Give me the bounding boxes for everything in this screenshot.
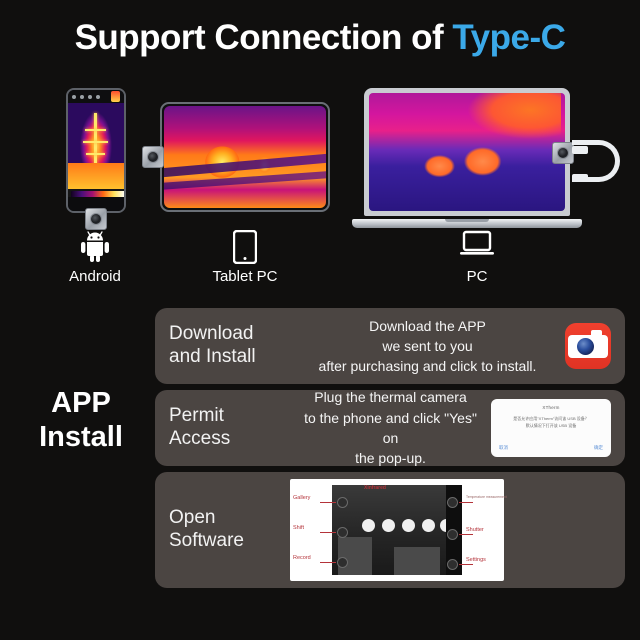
step-title-line2: and Install: [169, 346, 290, 369]
laptop-lid: [364, 88, 570, 216]
step-description-line2: to the phone and click "Yes" on: [296, 408, 485, 449]
thermal-palette-swatch-icon: [111, 91, 120, 102]
page-title: Support Connection of Type-C: [0, 18, 640, 58]
preview-block: [338, 537, 372, 575]
usb-c-plug-icon: [572, 146, 588, 154]
dialog-confirm-button[interactable]: 确定: [594, 445, 603, 451]
step-description-line2: we sent to you: [296, 336, 559, 356]
screenshot-label-temperature: Temperature measurement: [466, 495, 507, 499]
laptop-mockup: [352, 88, 582, 234]
laptop-thermal-image: [369, 93, 565, 211]
step-title: Open Software: [155, 507, 290, 553]
step-description-line1: Download the APP: [296, 316, 559, 336]
dialog-buttons: 取消 确定: [499, 445, 603, 451]
device-label-text: Tablet PC: [212, 268, 277, 285]
step-description-line3: the pop-up.: [296, 448, 485, 468]
step-description: Download the APP we sent to you after pu…: [290, 316, 565, 377]
laptop-base: [352, 219, 582, 228]
callout-line: [320, 532, 336, 533]
device-label-pc: PC: [422, 230, 532, 286]
callout-line: [459, 502, 473, 503]
usb-permission-dialog: XTherm 是否允许应用"XTherm"访问该 USB 设备？ 默认情况下打开…: [491, 399, 611, 457]
toolbar-dot-icon: [72, 95, 76, 99]
toolbar-dot-icon: [96, 95, 100, 99]
step-title: Permit Access: [155, 405, 290, 451]
record-button-icon[interactable]: [337, 557, 348, 568]
screenshot-label-record: Record: [293, 555, 311, 561]
product-infographic: Support Connection of Type-C: [0, 0, 640, 640]
laptop-icon: [422, 230, 532, 264]
tablet-icon: [190, 230, 300, 264]
tablet-thermal-image: [164, 106, 326, 208]
software-ui-screenshot: Xinfrared Gallery Shift Record: [290, 479, 504, 581]
device-label-tablet: Tablet PC: [190, 230, 300, 286]
step-description-line3: after purchasing and click to install.: [296, 356, 559, 376]
callout-line: [320, 562, 336, 563]
phone-thermal-image: [68, 103, 124, 189]
thermal-camera-module-icon: [85, 208, 107, 230]
step-card-download-install: Download and Install Download the APP we…: [155, 308, 625, 384]
gallery-button-icon[interactable]: [337, 497, 348, 508]
screenshot-label-shutter: Shutter: [466, 527, 484, 533]
callout-line: [459, 534, 473, 535]
thermal-camera-module-icon: [142, 146, 164, 168]
callout-line: [320, 502, 336, 503]
thermal-ground-band: [68, 163, 124, 189]
page-title-accent: Type-C: [452, 18, 565, 57]
app-install-section: APP Install Download and Install Downloa…: [0, 308, 640, 596]
thermal-camera-module-icon: [552, 142, 574, 164]
app-install-heading-line2: Install: [16, 420, 146, 454]
callout-line: [459, 564, 473, 565]
camera-lens-icon: [575, 336, 596, 357]
tablet-mockup: [160, 102, 330, 212]
app-install-heading: APP Install: [16, 386, 146, 454]
thermal-foliage: [459, 93, 561, 143]
shift-button-icon[interactable]: [337, 527, 348, 538]
android-phone-mockup: [66, 88, 126, 213]
screenshot-label-settings: Settings: [466, 557, 486, 563]
screenshot-label-gallery: Gallery: [293, 495, 310, 501]
step-description-line1: Plug the thermal camera: [296, 387, 485, 407]
page-title-main: Support Connection of: [75, 18, 453, 57]
toolbar-dot-icon: [80, 95, 84, 99]
camera-app-icon: [565, 323, 611, 369]
dialog-body: 是否允许应用"XTherm"访问该 USB 设备？ 默认情况下打开该 USB 设…: [499, 416, 603, 430]
step-card-permit-access: Permit Access Plug the thermal camera to…: [155, 390, 625, 466]
app-install-steps: Download and Install Download the APP we…: [155, 308, 625, 594]
dialog-title: XTherm: [499, 405, 603, 410]
phone-app-toolbar: [68, 90, 124, 103]
app-install-heading-line1: APP: [16, 386, 146, 420]
dialog-body-line2: 默认情况下打开该 USB 设备: [499, 423, 603, 430]
step-title-line2: Software: [169, 530, 290, 553]
step-title-line1: Permit: [169, 405, 290, 428]
device-label-text: Android: [69, 268, 121, 285]
xinfrared-logo: Xinfrared: [364, 485, 386, 491]
step-card-open-software: Open Software Xinfrared: [155, 472, 625, 588]
preview-block: [394, 547, 440, 575]
screenshot-label-shift: Shift: [293, 525, 304, 531]
temperature-button-icon[interactable]: [447, 497, 458, 508]
step-title: Download and Install: [155, 323, 290, 369]
android-robot-icon: [40, 230, 150, 264]
toolbar-dot-icon: [88, 95, 92, 99]
device-label-android: Android: [40, 230, 150, 286]
dialog-body-line1: 是否允许应用"XTherm"访问该 USB 设备？: [499, 416, 603, 423]
settings-button-icon[interactable]: [447, 559, 458, 570]
software-thermal-preview: [332, 485, 462, 575]
shutter-button-icon[interactable]: [447, 529, 458, 540]
usb-c-plug-icon: [572, 174, 588, 182]
dialog-cancel-button[interactable]: 取消: [499, 445, 508, 451]
step-title-line1: Open: [169, 507, 290, 530]
device-compatibility-row: Android Tablet PC PC: [0, 80, 640, 305]
step-title-line1: Download: [169, 323, 290, 346]
step-title-line2: Access: [169, 428, 290, 451]
step-description: Plug the thermal camera to the phone and…: [290, 387, 491, 468]
device-label-text: PC: [467, 268, 488, 285]
